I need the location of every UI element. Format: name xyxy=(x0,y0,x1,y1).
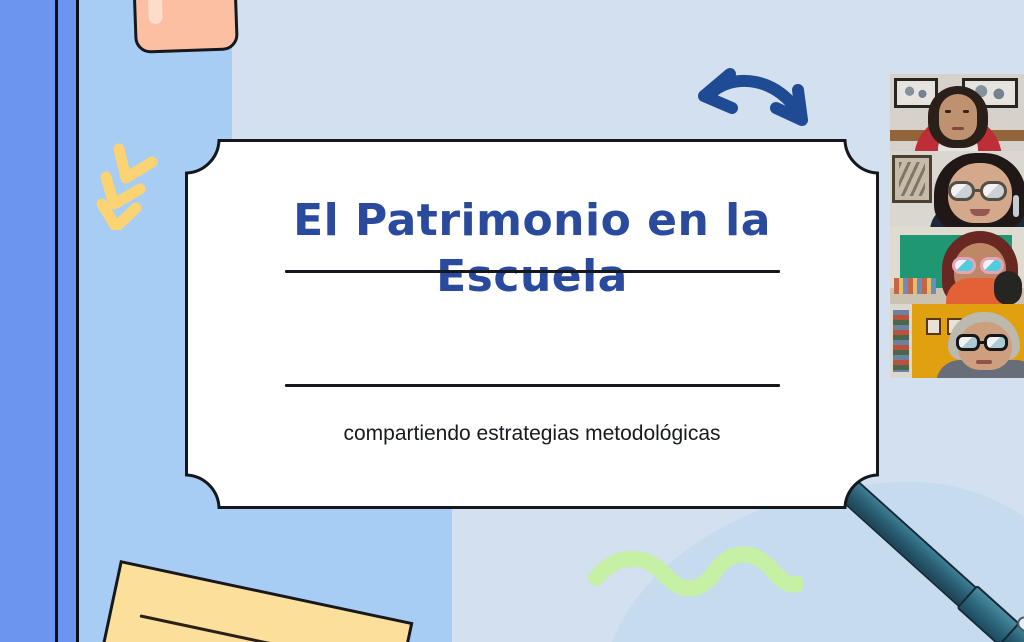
page-title: El Patrimonio en la Escuela xyxy=(235,193,829,306)
eraser-icon xyxy=(131,0,239,54)
left-panel-notch-top xyxy=(232,0,432,145)
presentation-screen: El Patrimonio en la Escuela compartiendo… xyxy=(0,0,1024,642)
participant-3-overlay xyxy=(890,227,1024,304)
participant-video-strip[interactable] xyxy=(890,74,1024,378)
participant-1-overlay xyxy=(890,74,1024,151)
chevron-marks-icon xyxy=(92,140,172,230)
curved-double-arrow-icon xyxy=(690,52,820,147)
participant-tile-3[interactable] xyxy=(890,227,1024,304)
page-title-line-2: Escuela xyxy=(235,249,829,305)
title-divider-lower xyxy=(285,384,780,387)
title-divider-upper xyxy=(285,270,780,273)
page-title-line-1: El Patrimonio en la xyxy=(235,193,829,249)
left-edge-band-narrow xyxy=(58,0,76,642)
sticky-note-line xyxy=(140,614,385,642)
participant-tile-2[interactable] xyxy=(890,151,1024,227)
participant-tile-1[interactable] xyxy=(890,74,1024,151)
left-edge-rule-inner xyxy=(76,0,79,642)
participant-4-overlay xyxy=(890,304,1024,378)
page-subtitle: compartiendo estrategias metodológicas xyxy=(185,422,879,446)
left-edge-band xyxy=(0,0,55,642)
left-edge-rule-outer xyxy=(55,0,58,642)
title-card-content: El Patrimonio en la Escuela compartiendo… xyxy=(185,139,879,509)
participant-tile-4[interactable] xyxy=(890,304,1024,378)
participant-2-overlay xyxy=(890,151,1024,227)
